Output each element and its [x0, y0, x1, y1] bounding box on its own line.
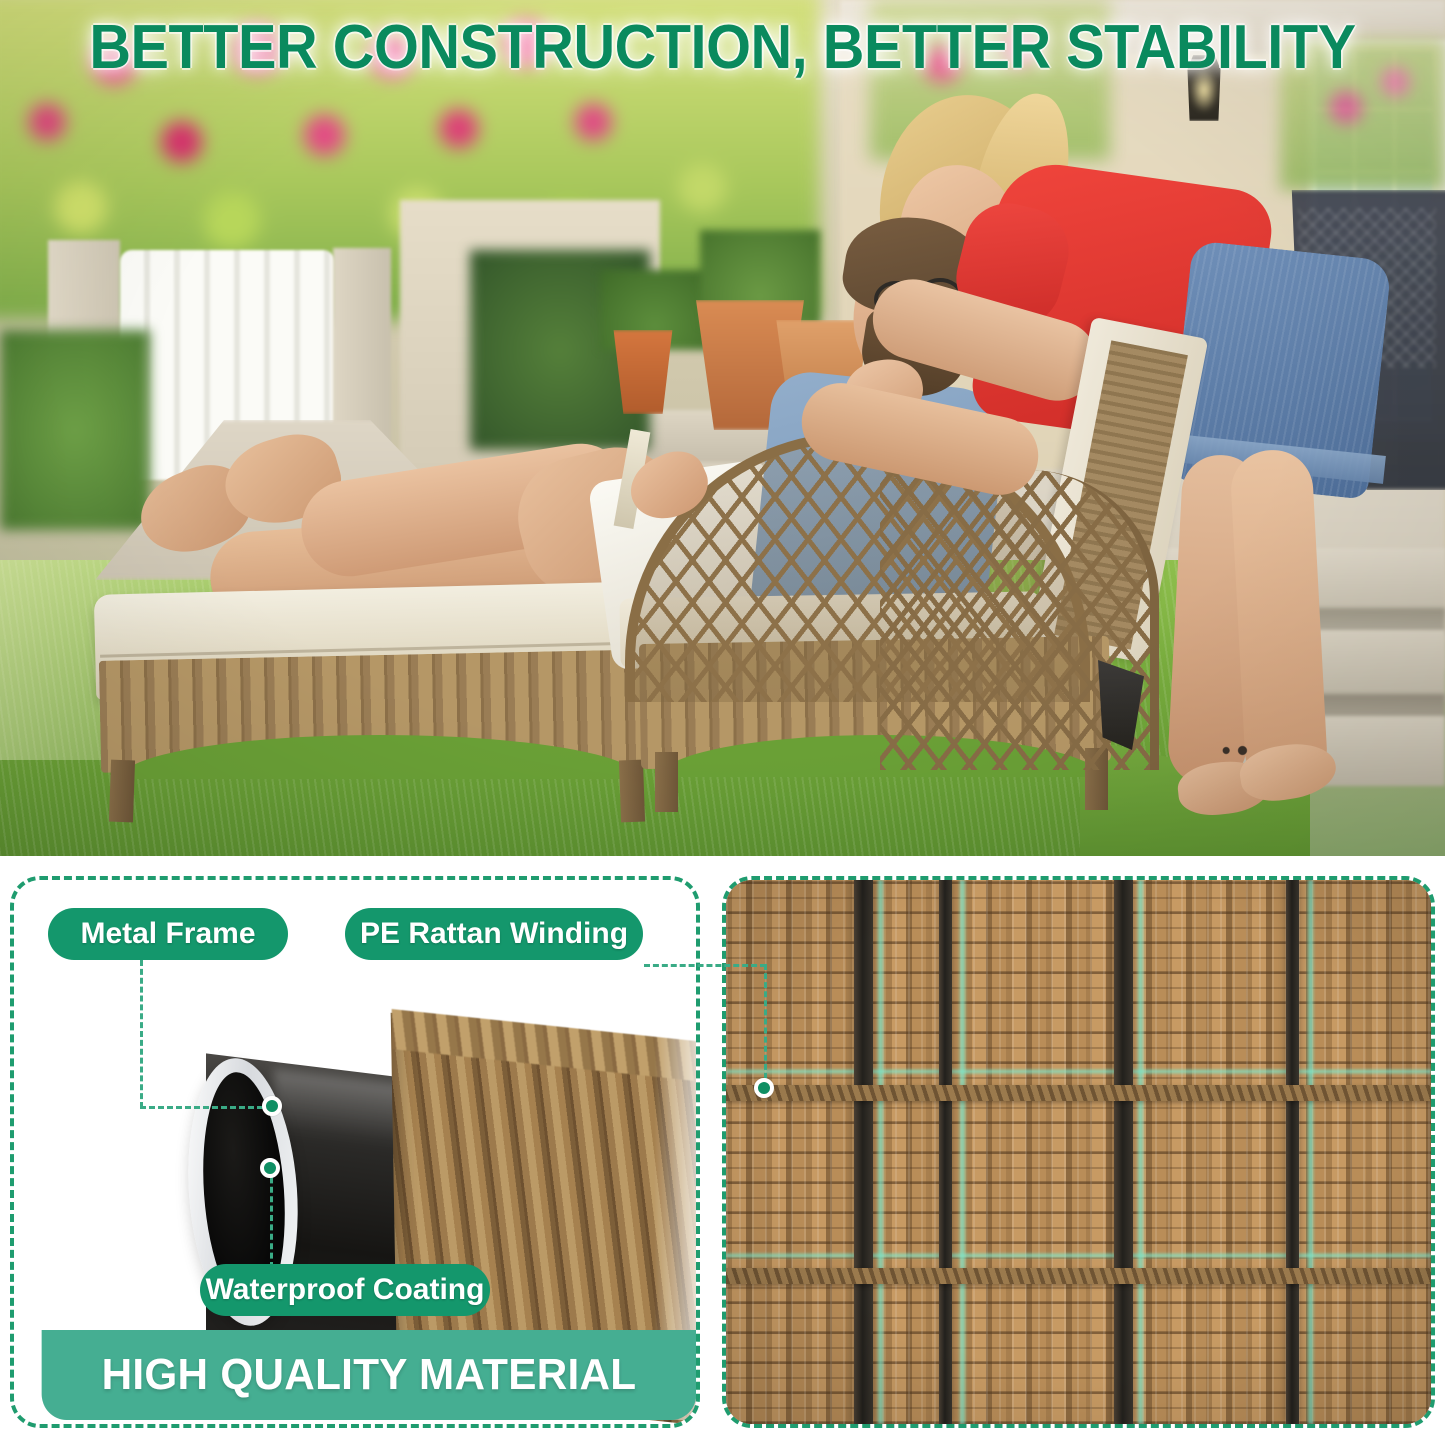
caption-high-quality-material: HIGH QUALITY MATERIAL [42, 1330, 697, 1420]
callout-dot-waterproof-coating [260, 1158, 280, 1178]
leader-line-rattan-horizontal [644, 964, 766, 967]
leader-line-metal-frame-horizontal [140, 1106, 272, 1109]
photo-vignette [0, 0, 1445, 856]
leader-line-waterproof-vertical [270, 1168, 273, 1268]
callout-metal-frame: Metal Frame [48, 908, 288, 960]
leader-line-metal-frame-vertical [140, 960, 143, 1108]
callout-waterproof-coating: Waterproof Coating [200, 1264, 490, 1316]
callout-dot-metal-frame [262, 1096, 282, 1116]
hero-photo [0, 0, 1445, 856]
wicker-vignette [726, 880, 1431, 1424]
callout-dot-pe-rattan [754, 1078, 774, 1098]
page-headline: BETTER CONSTRUCTION, BETTER STABILITY [51, 8, 1395, 86]
panel-multi-reinforced-structure: MULTI-REINFORCED STRUCTURE [722, 876, 1435, 1428]
callout-pe-rattan-winding: PE Rattan Winding [345, 908, 643, 960]
leader-line-rattan-vertical [764, 964, 767, 1088]
